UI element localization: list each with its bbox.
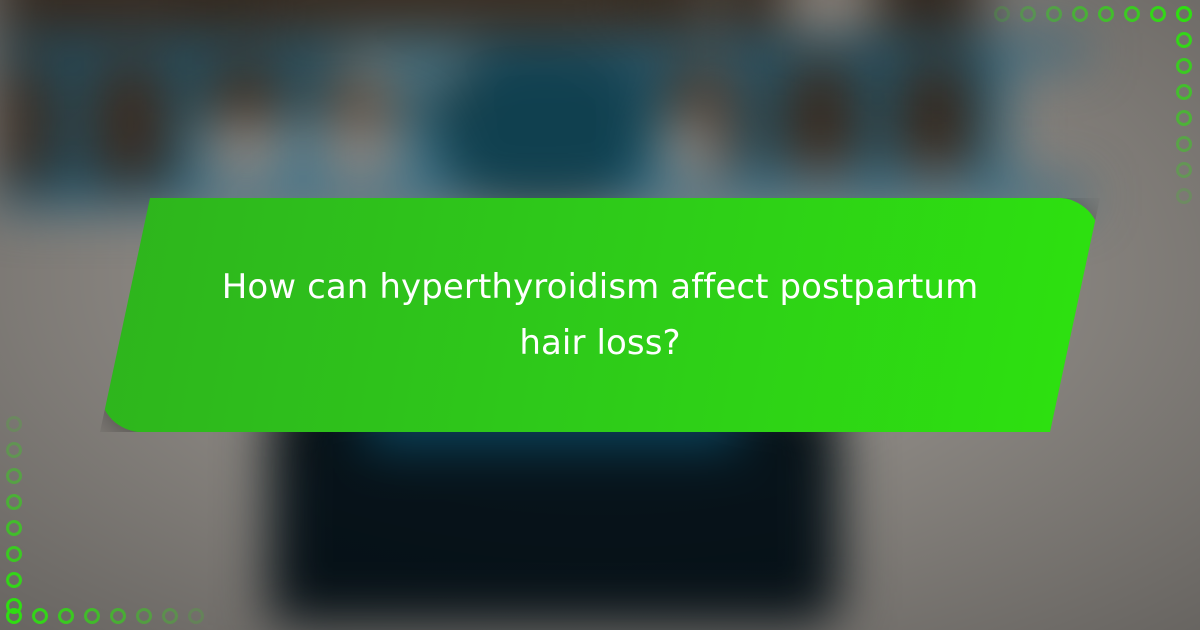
- decor-dot: [188, 608, 204, 624]
- decor-dot: [84, 608, 100, 624]
- decor-dot: [162, 608, 178, 624]
- decor-dot: [110, 608, 126, 624]
- headline-text-block: How can hyperthyroidism affect postpartu…: [100, 198, 1100, 432]
- headline-line-2: hair loss?: [519, 315, 680, 371]
- decor-dot: [136, 608, 152, 624]
- decor-dot: [6, 608, 22, 624]
- decor-dot: [58, 608, 74, 624]
- headline-banner: How can hyperthyroidism affect postpartu…: [100, 198, 1100, 432]
- headline-line-1: How can hyperthyroidism affect postpartu…: [222, 259, 979, 315]
- decor-dot: [32, 608, 48, 624]
- poster-canvas: How can hyperthyroidism affect postpartu…: [0, 0, 1200, 630]
